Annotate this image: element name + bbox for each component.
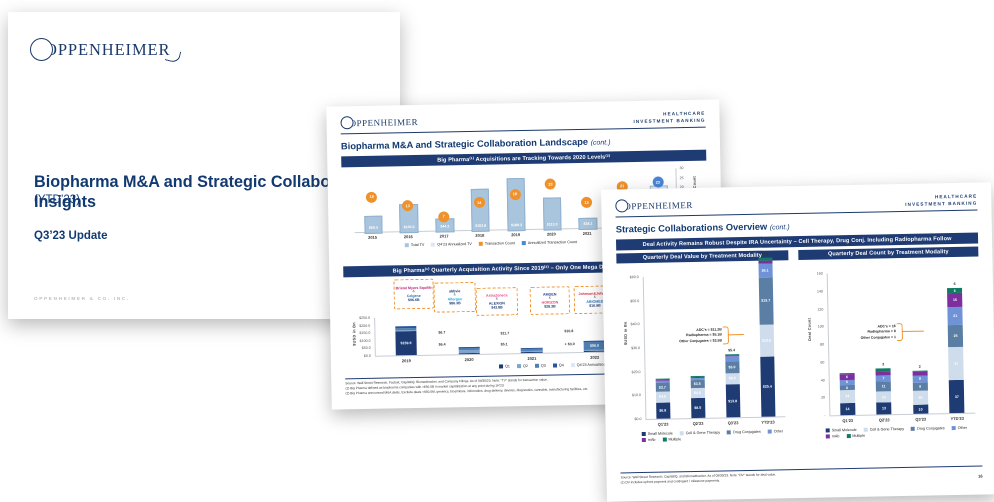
legend-label: Small Molecule (832, 428, 857, 432)
chart-deal-value-modality: $60.0$50.0$40.0$30.0$20.0$10.0$0.0$USD i… (617, 264, 793, 455)
y-axis-title: $USD in Bn (624, 321, 628, 345)
bar-stack: $13.8$5.0$5.0 (723, 275, 740, 417)
bar-segment-mab: 6 (840, 374, 855, 380)
legend-swatch (571, 363, 575, 367)
y-axis (643, 277, 646, 419)
legend-swatch (846, 434, 850, 438)
bar-segment-drug-conjugates: $3.7 (655, 383, 669, 392)
bar-segment-small-molecule: $8.5 (691, 398, 705, 418)
bar-stack: $159.9 (395, 317, 417, 355)
legend-swatch (864, 428, 868, 432)
chart-legend-item: Q1 (499, 364, 510, 368)
x-tick-label: Q2'23 (870, 417, 898, 423)
chart-legend-item: Q4 (553, 363, 564, 367)
bar-segment-mab: 15 (948, 293, 963, 307)
callout: ADC’s = 16Radiopharma = 8Other Conjugate… (848, 324, 896, 341)
legend-swatch (662, 438, 666, 442)
legend-label: Cell & Gene Therapy (686, 431, 720, 436)
bar-value-label: $38.1 (580, 220, 597, 228)
oppenheimer-logo: OPPENHEIMER (340, 115, 418, 129)
y-tick-label: $0.0 (619, 417, 641, 421)
bar-stack: 1313117 (874, 272, 891, 414)
bar-segment-multiple (758, 258, 772, 261)
bar-segment-multiple (876, 368, 891, 371)
slide-collaborations[interactable]: OPPENHEIMER HEALTHCARE INVESTMENT BANKIN… (601, 182, 994, 501)
x-tick-label: 2015 (358, 235, 386, 241)
legend-label: Cell & Gene Therapy (870, 427, 904, 432)
legend-label: Q4’23 Annualized (577, 363, 606, 368)
legend-label: Q4’23 Annualized TV (437, 242, 472, 247)
bar-segment-small-molecule: 14 (840, 403, 855, 416)
y-tick-label: $20.0 (619, 370, 641, 374)
chart-legend-item: Other (952, 426, 967, 430)
legend-label: Small Molecule (648, 431, 673, 435)
bar-total-label: 2 (911, 364, 929, 368)
bar-value-label: $189.3 (508, 221, 525, 229)
chart-legend-item: Q2 (517, 364, 528, 368)
y-tick-label: 60 (800, 360, 824, 364)
chart-legend-item: mAb (826, 434, 840, 438)
bar-segment-cell-gene-therapy: 14 (840, 390, 855, 403)
bar-segment-other: 8 (913, 375, 928, 382)
bar-segment-other (690, 378, 704, 381)
bar-value-label: $100.2 (401, 223, 418, 231)
legend-swatch (952, 426, 956, 430)
chart-legend-item: Q4’23 Annualized TV (431, 242, 472, 247)
bar-callout-label: $6.4 (439, 342, 446, 346)
bar-total-label: 3 (874, 362, 892, 366)
bar-total-tv: $38.1 (579, 217, 598, 230)
bar-stack: 101698 (911, 272, 928, 414)
bar-callout-label: $11.7 (500, 331, 509, 335)
deal-box: abbvie&Allergan$86.3B (434, 282, 477, 313)
legend-swatch (727, 430, 731, 434)
y-tick-label: 140 (799, 289, 823, 293)
bar-segment-small-molecule: 37 (949, 380, 964, 413)
bar-segment-small-molecule: $6.8 (656, 402, 670, 418)
bar-segment-multiple (913, 370, 928, 372)
bar-segment-q3 (458, 347, 479, 350)
x-tick-label: 2020 (453, 357, 485, 363)
chart-right-banner: Quarterly Deal Count by Treatment Modali… (798, 247, 978, 260)
chart-legend-item: Q4’23 Annualized (571, 363, 606, 368)
bar-segment-small-molecule: 10 (913, 405, 928, 414)
x-tick-label: Q1'23 (649, 421, 677, 427)
legend-label: Q1 (505, 364, 510, 368)
bar-segment-small-molecule: 13 (877, 403, 892, 415)
bar-total-label: 6 (946, 282, 964, 286)
transaction-count-bubble: 13 (581, 197, 592, 208)
chart-legend-item: Total TV (405, 243, 425, 247)
deal-value: $16.9B (589, 304, 601, 308)
bar-segment-q3: $56.0 (584, 341, 605, 350)
logo-ring-icon (30, 38, 53, 61)
bar-stack: $25.4$13.6$19.7$6.1 (758, 275, 775, 417)
bar-stack: 1414666 (838, 273, 855, 415)
deal-value: $96.6B (408, 298, 420, 302)
y-tick-label: $30.0 (618, 346, 640, 350)
slide-footer: OPPENHEIMER & CO. INC. (34, 296, 130, 301)
bar-segment-cell-gene-therapy: 37 (949, 347, 964, 380)
chart-legend-item: Drug Conjugates (727, 430, 761, 435)
slide-header: OPPENHEIMER HEALTHCARE INVESTMENT BANKIN… (601, 182, 992, 223)
bar-segment-other (725, 357, 739, 362)
legend-swatch (642, 432, 646, 436)
logo-wordmark: OPPENHEIMER (45, 40, 170, 60)
callout: ADC’s = $11.2BRadiopharma = $5.1BOther C… (678, 327, 722, 344)
oppenheimer-logo: OPPENHEIMER (615, 198, 693, 212)
transaction-count-bubble: 7 (438, 211, 449, 222)
transaction-count-bubble: 18 (366, 191, 377, 202)
x-tick-label: 2019 (502, 232, 530, 238)
bar-segment-cell-gene-therapy: $5.0 (725, 373, 739, 385)
y-tick-label: - (801, 414, 825, 418)
bar-value-label: $44.2 (437, 222, 454, 230)
bar-segment-cell-gene-therapy: $4.6 (655, 392, 669, 403)
chart-legend-item: Cell & Gene Therapy (680, 431, 720, 436)
bar-stack: $56.0 (583, 314, 605, 352)
bar-segment-other: $6.1 (758, 263, 772, 278)
chart-legend-item: Small Molecule (826, 428, 857, 433)
x-tick-label: Q3'23 (907, 416, 935, 422)
bar-segment-cell-gene-therapy: 16 (913, 390, 928, 404)
bar-segment-other: 6 (840, 379, 855, 385)
legend-swatch (826, 434, 830, 438)
y-axis (827, 273, 830, 415)
bar-segment-cell-gene-therapy: $4.0 (690, 388, 704, 398)
deal-value: $43.8B (491, 306, 503, 310)
bar-stack (520, 315, 542, 353)
page-subtitle: (YTD’23) (34, 194, 80, 206)
legend-swatch (499, 364, 503, 368)
slide-stack: OPPENHEIMER Biopharma M&A and Strategic … (0, 0, 994, 500)
y-tick-label: 25 (680, 176, 692, 180)
legend-swatch (768, 430, 772, 434)
chart-legend-item: Q3 (535, 364, 546, 368)
x-tick-label: YTD'23 (943, 416, 971, 422)
legend-label: Q3 (541, 364, 546, 368)
bar-total-tv: $189.3 (506, 178, 525, 231)
deal-value: $86.3B (449, 302, 461, 306)
legend-swatch (911, 427, 915, 431)
bar-value-label: $153.8 (472, 222, 489, 230)
bar-total-label: $1.4 (756, 252, 774, 256)
legend-swatch (405, 243, 409, 247)
legend-swatch (479, 242, 483, 246)
bar-total-tv: $59.4 (364, 216, 383, 234)
legend-label: Multiple (852, 434, 865, 438)
chart-deal-count-modality: 16014012010080604020-Deal Count1414666Q1… (799, 261, 983, 452)
header-tagline: HEALTHCARE INVESTMENT BANKING (633, 111, 705, 126)
y-axis-title: Deal Count (808, 318, 812, 341)
bar-segment-drug-conjugates: $3.5 (690, 380, 704, 389)
page-update-label: Q3’23 Update (34, 230, 108, 242)
bar-stack: 37372521156 (947, 271, 964, 413)
chart-legend-item: Other (768, 429, 783, 433)
bar-segment-drug-conjugates: $5.0 (725, 361, 739, 373)
chart-legend-item: Cell & Gene Therapy (864, 427, 904, 432)
bar-segment-mab (758, 260, 772, 263)
legend-label: mAb (832, 434, 840, 438)
chart-legend: Small MoleculeCell & Gene TherapyDrug Co… (826, 425, 986, 438)
bar-segment-mab (876, 371, 891, 376)
legend-label: Drug Conjugates (917, 426, 945, 431)
legend-swatch (517, 364, 521, 368)
y-tick-label: 80 (800, 343, 824, 347)
bar-callout-label: $10.8 (564, 329, 573, 333)
bar-segment-q1: $159.9 (395, 331, 417, 356)
bar-segment-multiple: 6 (947, 288, 962, 294)
x-tick-label: 2019 (390, 358, 422, 364)
bar-stack: $8.5$4.0$3.5 (688, 276, 705, 418)
legend-label: Total TV (411, 243, 425, 247)
bar-segment-mab (725, 355, 739, 357)
chart-legend-item: Drug Conjugates (911, 426, 945, 431)
legend-label: mAb (648, 438, 656, 442)
y-tick-label: $60.0 (617, 275, 639, 279)
deal-box: AMGEN&HORIZON$28.3B (530, 286, 571, 315)
legend-label: Q2 (523, 364, 528, 368)
bar-segment-drug-conjugates: 11 (876, 381, 891, 391)
deal-box: Bristol Myers Squibb&Celgene$96.6B (393, 279, 434, 310)
bar-segment-drug-conjugates: 6 (840, 385, 855, 391)
y-axis-title: $USD in Bn (352, 322, 356, 346)
y-tick-label: 40 (801, 378, 825, 382)
bar-segment-cell-gene-therapy: 13 (876, 391, 891, 403)
transaction-count-bubble: 23 (545, 178, 556, 189)
chart-legend-item: Multiple (846, 434, 865, 438)
legend-label: Q4 (559, 363, 564, 367)
chart-legend: Small MoleculeCell & Gene TherapyDrug Co… (642, 429, 796, 442)
bar-callout-label: + $3.0 (565, 342, 575, 346)
logo-wordmark: OPPENHEIMER (624, 200, 693, 211)
bar-segment-drug-conjugates: 25 (948, 325, 963, 347)
oppenheimer-logo: OPPENHEIMER (30, 38, 170, 61)
y-tick-label: 120 (799, 307, 823, 311)
bar-segment-other: 7 (876, 375, 891, 381)
legend-label: Annualized Transaction Count (528, 240, 577, 245)
bar-total-tv: $153.8 (471, 188, 490, 232)
bar-segment-q2 (458, 350, 479, 353)
callout-bracket-icon (897, 323, 903, 341)
bar-segment-small-molecule: $13.8 (725, 384, 740, 417)
y-tick-label: $50.0 (617, 299, 639, 303)
x-tick-label: 2020 (537, 231, 565, 237)
x-tick-label: YTD'23 (754, 419, 782, 425)
bar-segment-mab (913, 372, 928, 376)
y-tick-label: $10.0 (619, 393, 641, 397)
callout-line: Other Conjugates = $3.5B (678, 338, 722, 344)
callout-bracket-icon (723, 326, 729, 344)
chart-legend-item: mAb (642, 438, 656, 442)
y-tick-label: 160 (799, 272, 823, 276)
y-tick-label: $0.0 (349, 354, 371, 358)
bar-segment-cell-gene-therapy: $13.6 (759, 324, 774, 356)
bar-segment-drug-conjugates: 9 (913, 382, 928, 390)
y-tick-label: $40.0 (618, 322, 640, 326)
legend-label: Other (958, 426, 967, 430)
callout-line: Other Conjugates = 1 (848, 335, 896, 341)
annualized-count-bubble: 23 (652, 176, 663, 187)
y-tick-label: 30 (679, 166, 691, 170)
transaction-count-bubble: 18 (509, 189, 520, 200)
y-tick-label: $50.0 (349, 346, 371, 350)
x-tick-label: 2021 (516, 356, 548, 362)
bar-total-label: $5.4 (723, 348, 741, 352)
chart-legend-item: Annualized Transaction Count (522, 240, 577, 245)
legend-swatch (642, 438, 646, 442)
legend-label: Other (774, 429, 783, 433)
bar-callout-label: $5.1 (501, 342, 508, 346)
chart-legend-item: Multiple (662, 437, 681, 441)
y-tick-label: $250.0 (348, 316, 370, 320)
deal-value: $28.3B (544, 305, 556, 309)
legend-swatch (431, 243, 435, 247)
bar-segment-small-molecule: $25.4 (760, 356, 775, 416)
bar-value-label: $113.0 (544, 220, 561, 228)
bar-callout-label: $6.7 (438, 330, 445, 334)
chart-legend-item: Small Molecule (642, 431, 673, 436)
y-tick-label: 20 (801, 396, 825, 400)
x-tick-label: 2021 (573, 231, 601, 237)
legend-swatch (680, 431, 684, 435)
legend-swatch (553, 363, 557, 367)
page-number: 16 (978, 474, 983, 479)
legend-label: Multiple (668, 437, 681, 441)
legend-swatch (522, 241, 526, 245)
bar-segment-drug-conjugates: $19.7 (758, 278, 773, 325)
bar-stack (458, 316, 480, 354)
deal-box: AstraZeneca&ALEXION$43.8B (476, 287, 519, 316)
legend-swatch (535, 364, 539, 368)
legend-label: Transaction Count (485, 241, 515, 246)
callout-leader-line (728, 334, 744, 335)
x-tick-label: Q3'23 (719, 420, 747, 426)
x-tick-label: Q1'23 (834, 418, 862, 424)
x-tick-label: Q2'23 (684, 421, 712, 427)
logo-wordmark: OPPENHEIMER (349, 116, 418, 127)
page-title: Strategic Collaborations Overview (cont.… (616, 221, 790, 234)
bar-segment-other (655, 380, 669, 383)
header-tagline: HEALTHCARE INVESTMENT BANKING (905, 194, 977, 209)
slide-header: OPPENHEIMER HEALTHCARE INVESTMENT BANKIN… (326, 99, 720, 140)
bar-stack: $6.8$4.6$3.7 (653, 277, 670, 419)
chart-legend-item: Transaction Count (479, 241, 515, 246)
x-tick-label: 2018 (466, 233, 494, 239)
bar-value-label: $59.4 (365, 224, 382, 232)
y-axis (374, 318, 375, 356)
legend-swatch (826, 428, 830, 432)
bar-total-tv: $113.0 (543, 198, 562, 231)
legend-label: Drug Conjugates (733, 430, 761, 435)
x-tick-label: 2017 (430, 233, 458, 239)
x-tick-label: 2016 (394, 234, 422, 240)
bar-segment-other: 21 (948, 306, 963, 325)
